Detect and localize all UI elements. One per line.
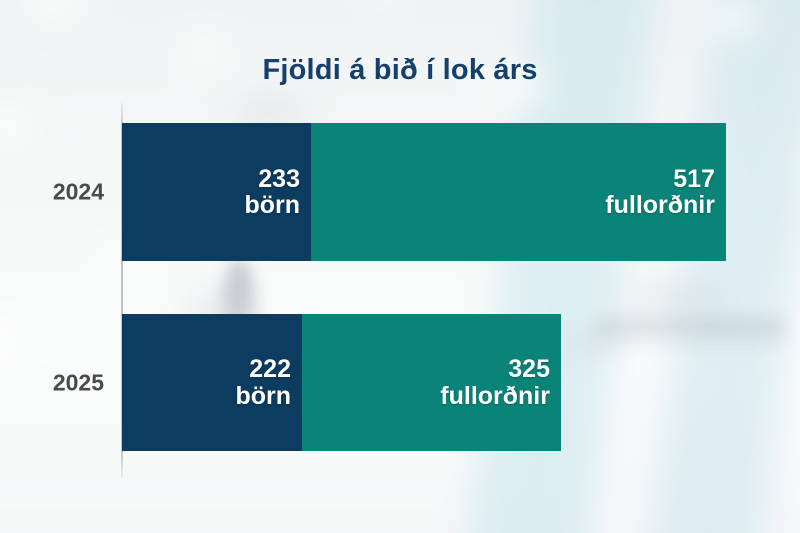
bar-segment-children-2024[interactable]: 233 börn bbox=[122, 123, 311, 261]
segment-value-adults-2025: 325 bbox=[440, 356, 550, 383]
segment-label-children-2024: 233 börn bbox=[244, 166, 300, 219]
segment-value-children-2024: 233 bbox=[244, 166, 300, 193]
bar-segment-adults-2024[interactable]: 517 fullorðnir bbox=[311, 123, 726, 261]
stacked-bar-2024: 233 börn 517 fullorðnir bbox=[122, 123, 726, 261]
segment-label-children-2025: 222 börn bbox=[235, 356, 291, 409]
category-label-2024: 2024 bbox=[0, 179, 104, 206]
bar-row-2024: 2024 233 börn 517 fullorðnir bbox=[0, 123, 800, 261]
segment-unit-adults-2024: fullorðnir bbox=[605, 192, 715, 219]
bar-row-2025: 2025 222 börn 325 fullorðnir bbox=[0, 314, 800, 451]
chart-stage: Fjöldi á bið í lok árs 2024 233 börn 517… bbox=[0, 0, 800, 533]
chart-title: Fjöldi á bið í lok árs bbox=[0, 54, 800, 87]
stacked-bar-2025: 222 börn 325 fullorðnir bbox=[122, 314, 561, 451]
segment-value-children-2025: 222 bbox=[235, 356, 291, 383]
bar-segment-children-2025[interactable]: 222 börn bbox=[122, 314, 302, 451]
segment-unit-adults-2025: fullorðnir bbox=[440, 383, 550, 410]
segment-label-adults-2025: 325 fullorðnir bbox=[440, 356, 550, 409]
segment-label-adults-2024: 517 fullorðnir bbox=[605, 166, 715, 219]
segment-unit-children-2025: börn bbox=[235, 383, 291, 410]
segment-value-adults-2024: 517 bbox=[605, 166, 715, 193]
bar-segment-adults-2025[interactable]: 325 fullorðnir bbox=[302, 314, 561, 451]
segment-unit-children-2024: börn bbox=[244, 192, 300, 219]
category-label-2025: 2025 bbox=[0, 369, 104, 396]
